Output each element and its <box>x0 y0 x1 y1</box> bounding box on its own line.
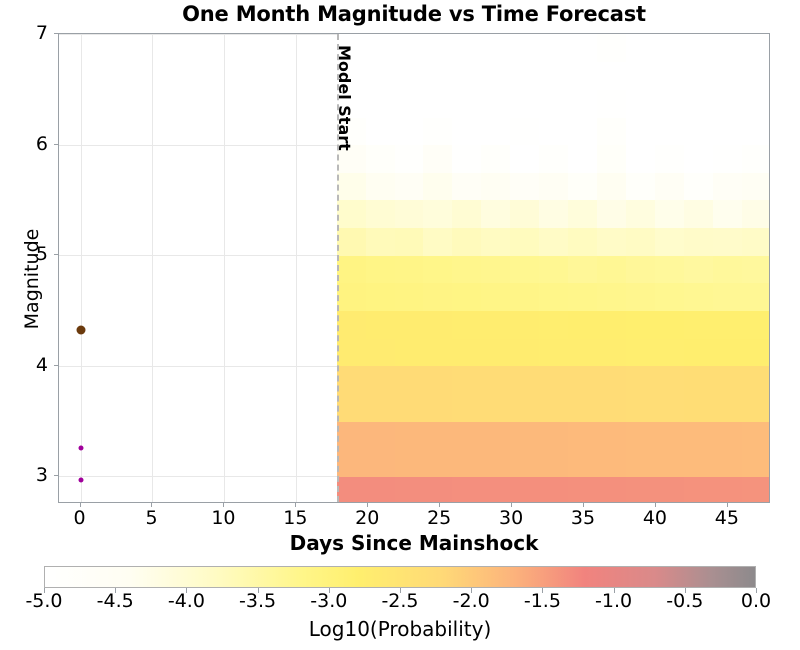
colorbar-tick-label: -2.0 <box>436 590 506 612</box>
x-tick-label: 10 <box>193 507 253 529</box>
y-tick-mark <box>54 254 58 255</box>
x-tick-mark <box>439 503 440 507</box>
colorbar <box>44 566 756 588</box>
x-tick-mark <box>151 503 152 507</box>
forecast-figure: One Month Magnitude vs Time Forecast Mod… <box>0 0 800 650</box>
page-title: One Month Magnitude vs Time Forecast <box>58 2 770 26</box>
x-tick-label: 30 <box>481 507 541 529</box>
x-tick-label: 40 <box>625 507 685 529</box>
x-tick-mark <box>655 503 656 507</box>
colorbar-tick-label: -1.0 <box>579 590 649 612</box>
colorbar-tick-label: 0.0 <box>721 590 791 612</box>
y-tick-mark <box>54 365 58 366</box>
colorbar-tick-label: -0.5 <box>650 590 720 612</box>
y-tick-mark <box>54 33 58 34</box>
colorbar-label: Log10(Probability) <box>44 617 756 641</box>
x-tick-label: 25 <box>409 507 469 529</box>
x-tick-label: 45 <box>697 507 757 529</box>
y-tick-label: 7 <box>0 22 48 44</box>
x-tick-mark <box>80 503 81 507</box>
y-tick-label: 6 <box>0 133 48 155</box>
y-axis-label: Magnitude <box>21 179 43 379</box>
y-tick-label: 3 <box>0 464 48 486</box>
x-tick-mark <box>511 503 512 507</box>
x-tick-mark <box>727 503 728 507</box>
colorbar-tick-label: -5.0 <box>9 590 79 612</box>
observed-event-point <box>78 477 83 482</box>
colorbar-tick-label: -2.5 <box>365 590 435 612</box>
x-tick-label: 35 <box>553 507 613 529</box>
observed-events-layer <box>59 34 769 502</box>
x-tick-label: 20 <box>337 507 397 529</box>
observed-event-point <box>78 445 83 450</box>
x-tick-label: 5 <box>121 507 181 529</box>
observed-event-point <box>76 326 85 335</box>
x-tick-mark <box>583 503 584 507</box>
x-tick-label: 15 <box>265 507 325 529</box>
colorbar-gradient <box>44 566 756 588</box>
y-tick-mark <box>54 475 58 476</box>
colorbar-tick-label: -3.0 <box>294 590 364 612</box>
plot-area: Model Start <box>58 33 770 503</box>
colorbar-tick-label: -1.5 <box>507 590 577 612</box>
colorbar-tick-label: -4.0 <box>151 590 221 612</box>
x-tick-mark <box>295 503 296 507</box>
x-tick-mark <box>223 503 224 507</box>
colorbar-tick-label: -4.5 <box>80 590 150 612</box>
x-tick-mark <box>367 503 368 507</box>
x-tick-label: 0 <box>50 507 110 529</box>
x-axis-label: Days Since Mainshock <box>58 531 770 555</box>
colorbar-tick-label: -3.5 <box>223 590 293 612</box>
y-tick-mark <box>54 144 58 145</box>
